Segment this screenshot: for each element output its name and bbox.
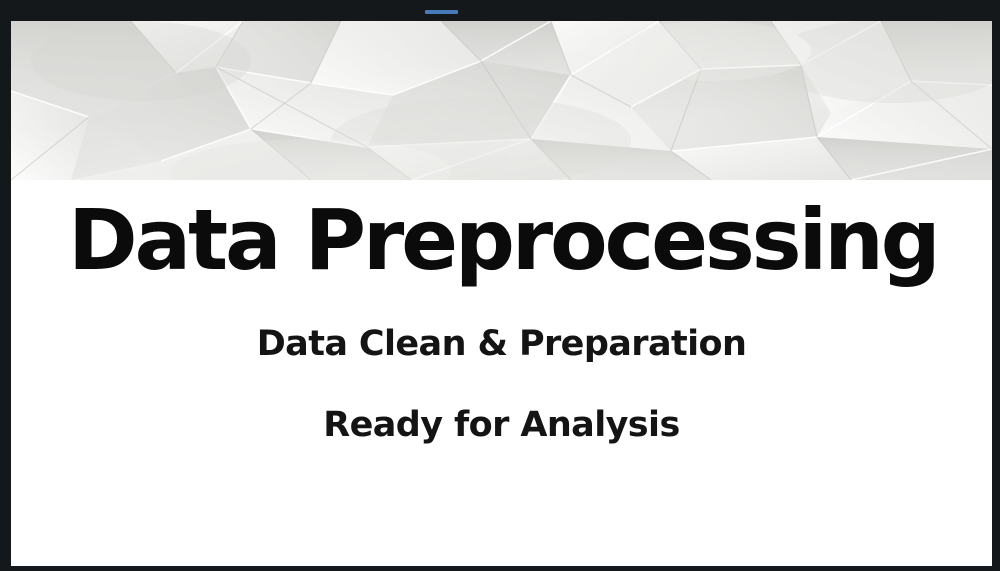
slide-subtitle-primary: Data Clean & Preparation [11, 324, 992, 364]
crumpled-paper-banner [11, 21, 992, 180]
top-progress-sliver-icon[interactable] [425, 10, 458, 14]
slide-text-body: Data Preprocessing Data Clean & Preparat… [11, 180, 992, 566]
slide-canvas[interactable]: Data Preprocessing Data Clean & Preparat… [11, 21, 992, 566]
crumpled-paper-texture-icon [11, 21, 992, 180]
window-frame: Data Preprocessing Data Clean & Preparat… [0, 0, 1000, 571]
page-title: Data Preprocessing [68, 196, 938, 284]
slide-subtitle-secondary: Ready for Analysis [11, 405, 992, 445]
